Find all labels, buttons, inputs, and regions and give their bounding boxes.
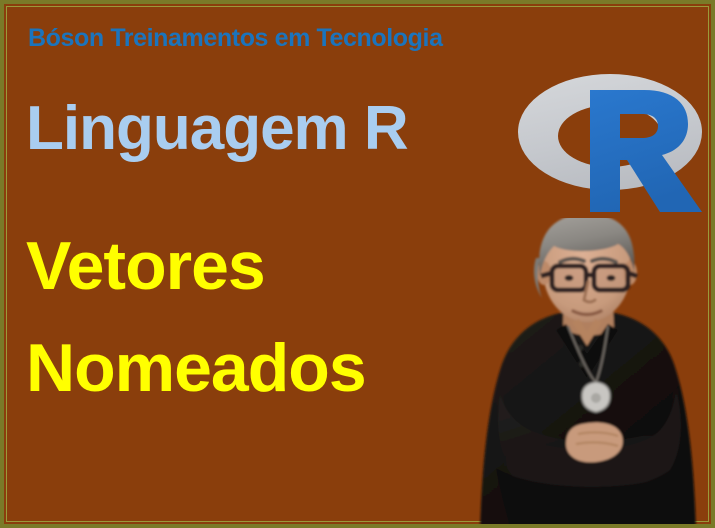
r-language-logo [512, 62, 708, 224]
topic-line-2: Nomeados [26, 334, 366, 402]
presenter-eye-right [607, 275, 616, 281]
topic-line-1: Vetores [26, 232, 265, 300]
brand-title: Bóson Treinamentos em Tecnologia [28, 24, 443, 53]
course-title: Linguagem R [26, 98, 408, 160]
presenter-eye-left [565, 275, 574, 281]
presenter-photo [456, 218, 715, 528]
slide-canvas: Bóson Treinamentos em Tecnologia Linguag… [0, 0, 715, 528]
